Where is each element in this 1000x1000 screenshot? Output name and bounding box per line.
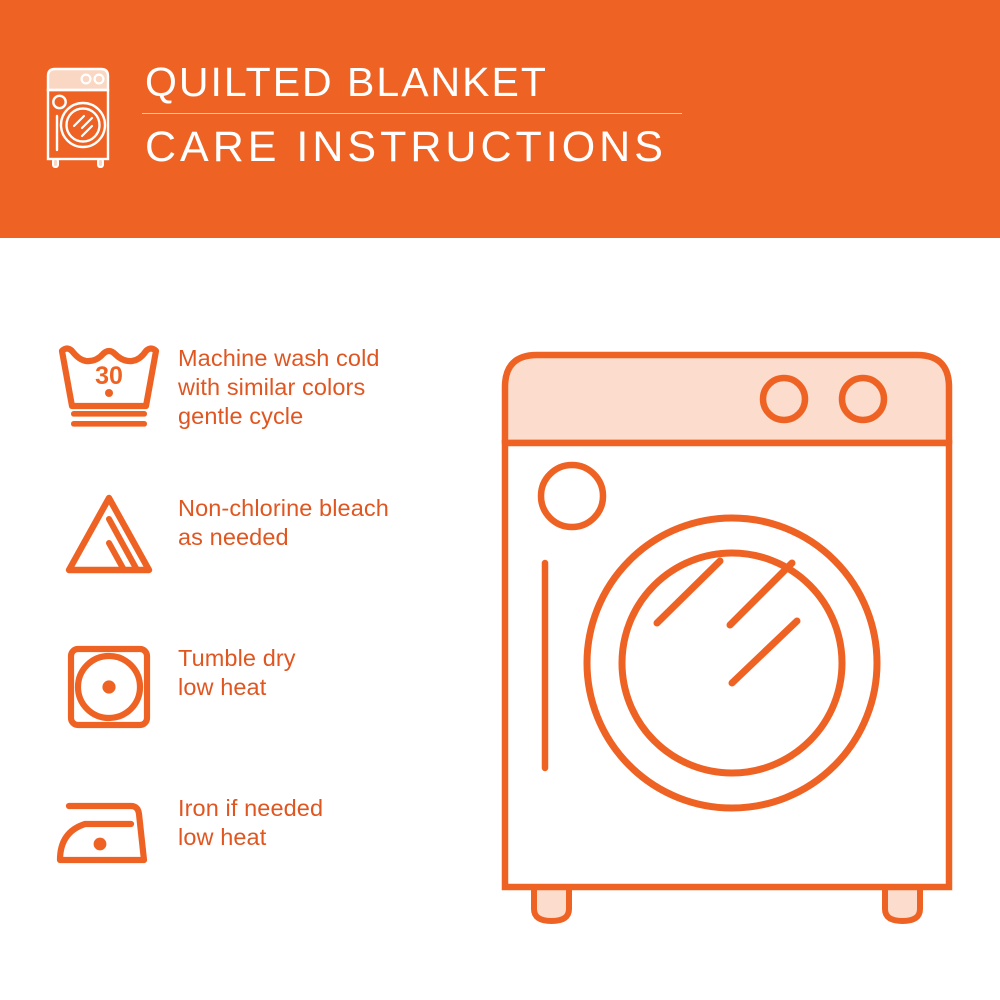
iron-dot — [94, 838, 107, 851]
care-line: Machine wash cold — [178, 344, 380, 373]
care-row: Tumble dry low heat — [48, 638, 468, 788]
machine-wash-30-gentle-icon: 30 — [55, 340, 163, 432]
page-title-primary: QUILTED BLANKET — [142, 58, 682, 106]
care-text-dry: Tumble dry low heat — [170, 638, 296, 702]
care-line: with similar colors — [178, 373, 380, 402]
care-row: 30 Machine wash cold with similar colors… — [48, 338, 468, 488]
iron-symbol — [48, 788, 170, 870]
care-line: Tumble dry — [178, 644, 296, 673]
bleach-symbol — [48, 488, 170, 582]
iron-low-heat-icon — [55, 790, 163, 870]
wash-temperature-label: 30 — [95, 362, 123, 390]
care-line: Non-chlorine bleach — [178, 494, 389, 523]
care-line: as needed — [178, 523, 389, 552]
page-header: QUILTED BLANKET CARE INSTRUCTIONS — [0, 0, 1000, 238]
header-title-group: QUILTED BLANKET CARE INSTRUCTIONS — [142, 58, 682, 173]
header-content: QUILTED BLANKET CARE INSTRUCTIONS — [42, 58, 682, 173]
machine-wash-symbol: 30 — [48, 338, 170, 432]
title-divider — [142, 113, 682, 114]
page-title-secondary: CARE INSTRUCTIONS — [142, 121, 682, 173]
care-text-iron: Iron if needed low heat — [170, 788, 323, 852]
care-line: Iron if needed — [178, 794, 323, 823]
tumble-dry-symbol — [48, 638, 170, 732]
care-row: Iron if needed low heat — [48, 788, 468, 938]
machine-body — [505, 443, 949, 887]
care-text-bleach: Non-chlorine bleach as needed — [170, 488, 389, 552]
page-content: 30 Machine wash cold with similar colors… — [0, 238, 1000, 1000]
wash-dot — [105, 389, 113, 397]
tumble-dry-dot — [102, 680, 115, 693]
care-line: low heat — [178, 673, 296, 702]
care-row: Non-chlorine bleach as needed — [48, 488, 468, 638]
care-text-wash: Machine wash cold with similar colors ge… — [170, 338, 380, 431]
care-line: gentle cycle — [178, 402, 380, 431]
care-line: low heat — [178, 823, 323, 852]
care-instruction-list: 30 Machine wash cold with similar colors… — [48, 338, 468, 938]
non-chlorine-bleach-icon — [59, 490, 159, 582]
tumble-dry-low-icon — [62, 640, 156, 732]
front-load-washing-machine-illustration — [492, 333, 962, 933]
washing-machine-icon — [42, 64, 118, 172]
